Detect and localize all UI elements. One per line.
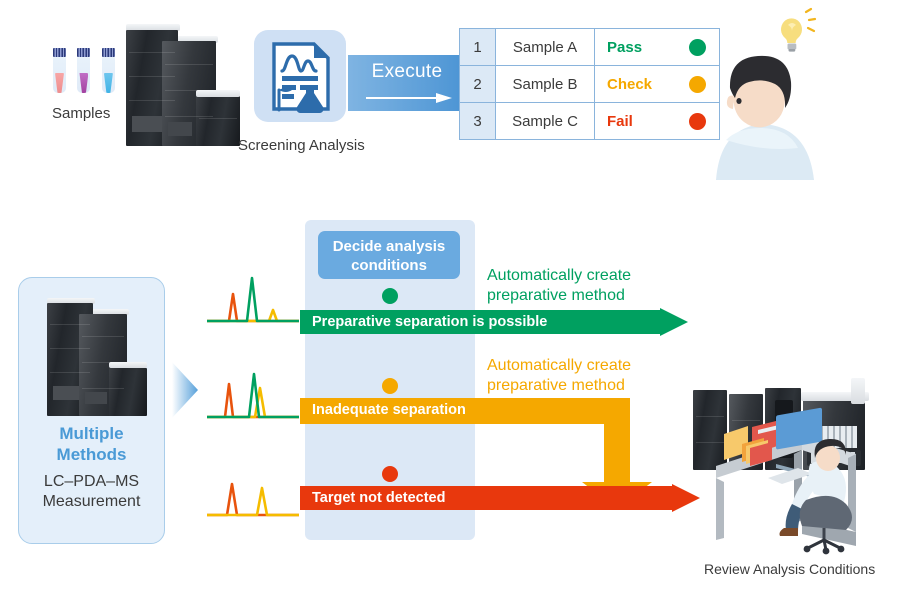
branch-label-pass: Preparative separation is possible — [312, 314, 547, 330]
execute-label: Execute — [348, 61, 466, 83]
status-dot-green — [382, 288, 398, 304]
execute-banner: Execute — [348, 55, 466, 111]
methods-title-line1: Multiple — [19, 423, 164, 444]
methods-subtitle-line1: LC–PDA–MS — [19, 472, 164, 492]
sample-name: Sample C — [496, 103, 595, 140]
review-analysis-conditions-label: Review Analysis Conditions — [704, 561, 875, 577]
sample-name: Sample B — [496, 66, 595, 103]
chromatogram-well-separated — [207, 276, 299, 324]
status-dot-orange — [382, 378, 398, 394]
row-index: 3 — [460, 103, 496, 140]
branch-note-check-line1: Automatically create — [487, 356, 631, 376]
branch-note-pass-line1: Automatically create — [487, 266, 631, 286]
person-at-desk-icon — [706, 420, 886, 555]
arrow-right-icon — [366, 93, 452, 103]
chromatogram-overlapping — [207, 372, 299, 420]
row-index: 2 — [460, 66, 496, 103]
branch-note-check: Automatically create preparative method — [487, 356, 631, 396]
branch-note-pass: Automatically create preparative method — [487, 266, 631, 306]
chromatogram-no-target — [207, 474, 299, 518]
methods-title-line2: Methods — [19, 444, 164, 465]
decide-line1: Decide analysis — [318, 237, 460, 256]
branch-label-check: Inadequate separation — [312, 402, 466, 418]
lc-instrument-icon — [118, 24, 236, 142]
table-row[interactable]: 2 Sample B Check — [460, 66, 720, 103]
branch-note-check-line2: preparative method — [487, 376, 631, 396]
chevron-right-icon — [172, 362, 198, 418]
person-thinking-icon — [700, 44, 840, 180]
methods-subtitle-line2: Measurement — [19, 492, 164, 512]
status-text: Pass — [595, 29, 676, 66]
lc-instrument-icon — [41, 298, 145, 416]
branch-label-fail: Target not detected — [312, 490, 445, 506]
methods-title: Multiple Methods — [19, 423, 164, 465]
vial — [101, 48, 116, 95]
analysis-document-icon — [254, 30, 346, 122]
methods-subtitle: LC–PDA–MS Measurement — [19, 472, 164, 512]
multiple-methods-panel: Multiple Methods LC–PDA–MS Measurement — [18, 277, 165, 544]
vial — [76, 48, 91, 95]
decide-conditions-box[interactable]: Decide analysis conditions — [318, 231, 460, 279]
row-index: 1 — [460, 29, 496, 66]
table-row[interactable]: 1 Sample A Pass — [460, 29, 720, 66]
branch-note-pass-line2: preparative method — [487, 286, 631, 306]
screening-analysis-label: Screening Analysis — [238, 137, 365, 154]
sample-name: Sample A — [496, 29, 595, 66]
samples-label: Samples — [52, 105, 110, 122]
vial — [52, 48, 67, 95]
status-text: Check — [595, 66, 676, 103]
status-text: Fail — [595, 103, 676, 140]
results-table: 1 Sample A Pass 2 Sample B Check 3 Sampl… — [459, 28, 720, 140]
decide-line2: conditions — [318, 256, 460, 275]
decide-conditions-label: Decide analysis conditions — [318, 237, 460, 275]
table-row[interactable]: 3 Sample C Fail — [460, 103, 720, 140]
